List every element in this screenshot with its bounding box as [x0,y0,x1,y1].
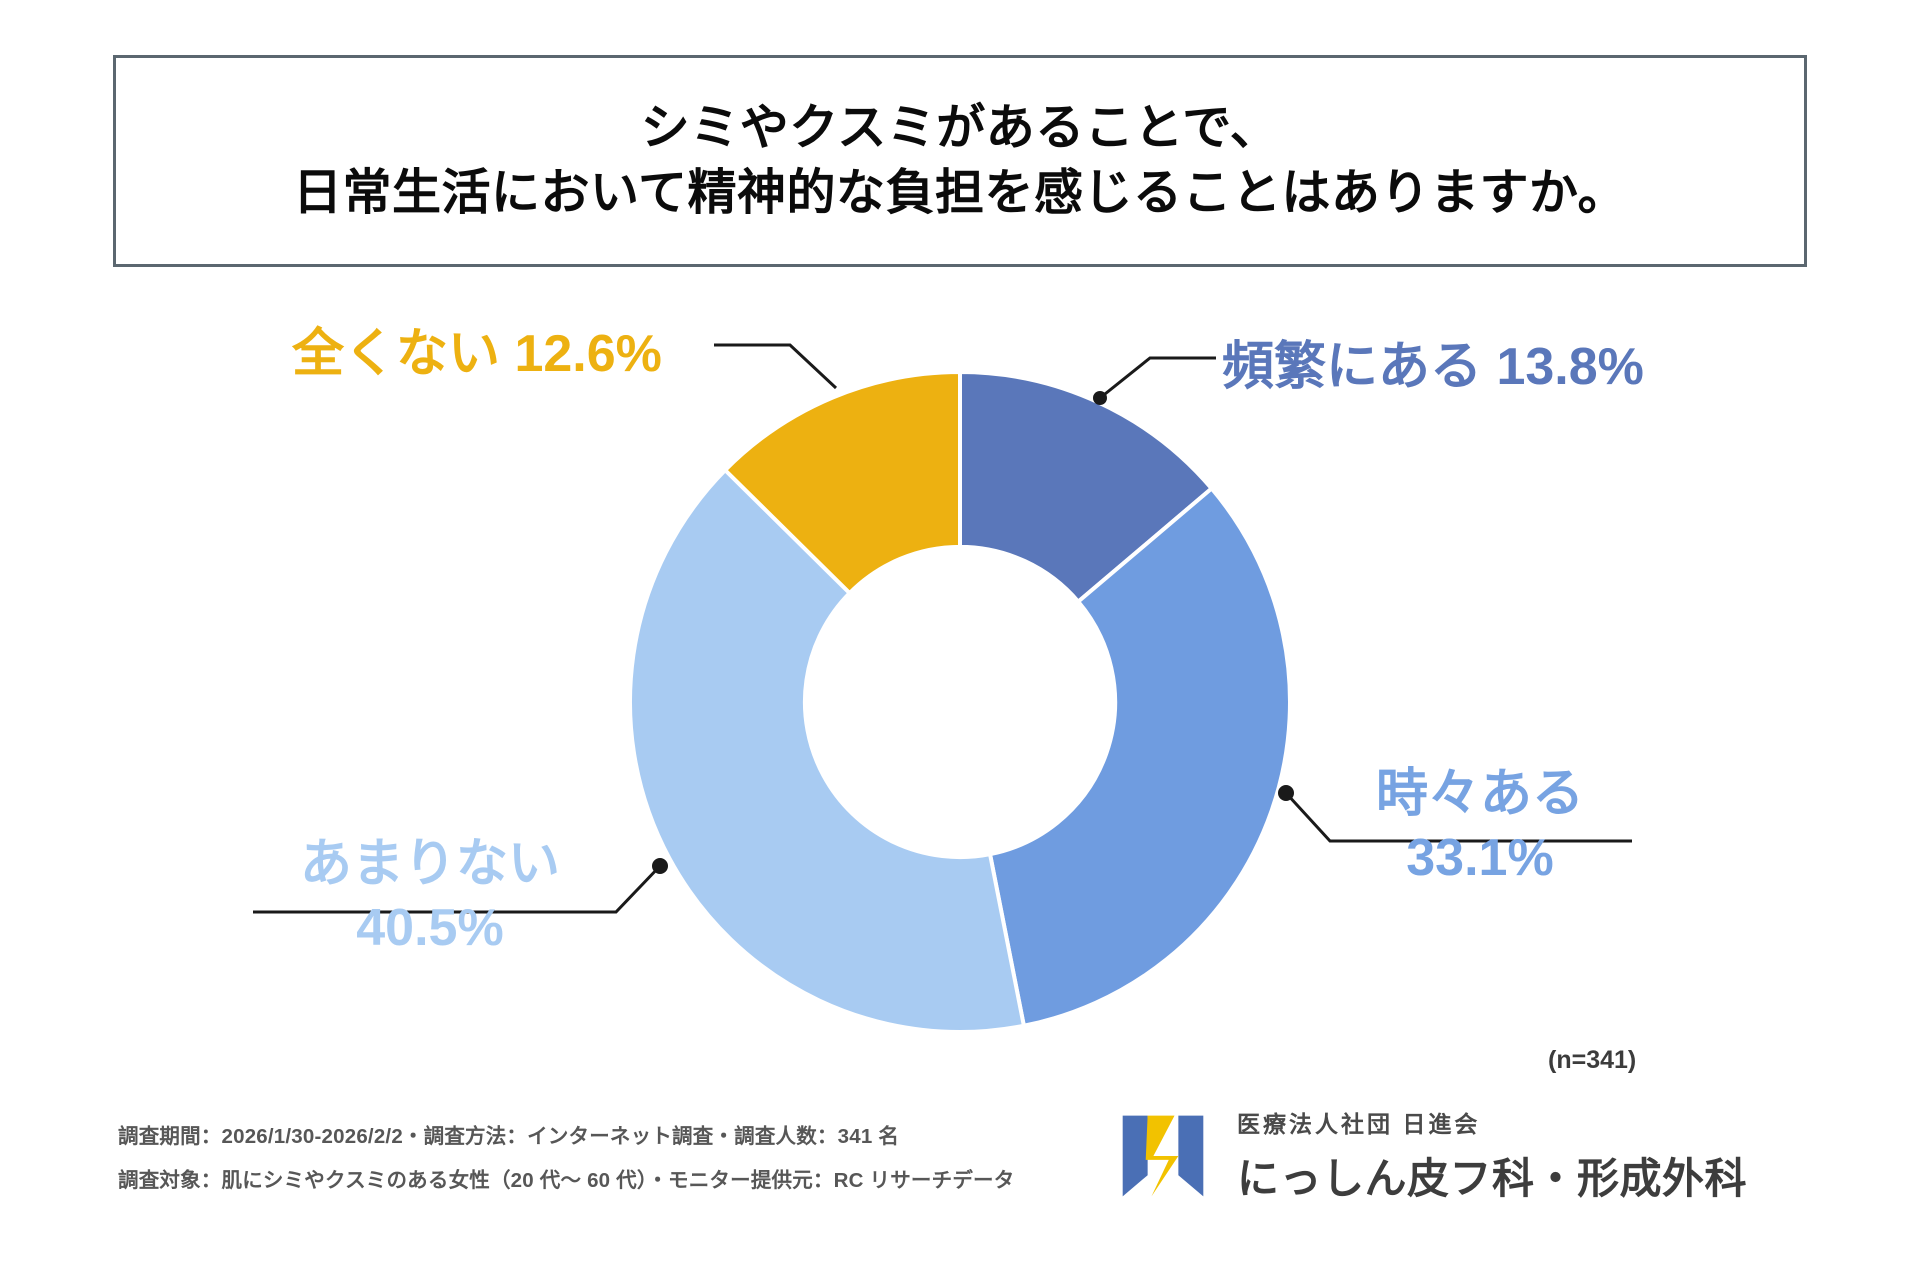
slice-label-sometimes-value: 33.1% [1350,829,1610,887]
slice-label-often-value: 13.8% [1496,338,1643,396]
slice-label-rarely-value: 40.5% [290,899,570,957]
slice-label-none: 全くない 12.6% [292,325,662,383]
title-box: シミやクスミがあることで、 日常生活において精神的な負担を感じることはありますか… [113,55,1807,267]
donut-chart [630,372,1290,1032]
sample-size-note: (n=341) [1548,1046,1636,1075]
logo-text: 医療法人社団 日進会 にっしん皮フ科・形成外科 [1237,1105,1747,1206]
logo-corporation: 医療法人社団 日進会 [1237,1105,1747,1139]
title-line-2: 日常生活において精神的な負担を感じることはありますか。 [293,161,1627,226]
slide-canvas: シミやクスミがあることで、 日常生活において精神的な負担を感じることはありますか… [0,0,1920,1280]
slice-label-sometimes-name: 時々ある [1376,765,1584,823]
slice-label-none-name: 全くない [292,325,500,383]
logo-clinic-name: にっしん皮フ科・形成外科 [1237,1145,1747,1206]
survey-footer-line-2: 調査対象：肌にシミやクスミのある女性（20 代〜 60 代）・モニター提供元：R… [118,1170,1178,1192]
donut-slice-1 [990,488,1290,1025]
survey-footer: 調査期間：2026/1/30-2026/2/2・調査方法：インターネット調査・調… [118,1126,1178,1213]
donut-svg [630,372,1290,1032]
slice-label-none-value: 12.6% [514,325,661,383]
slice-label-often-name: 頻繁にある [1222,338,1482,396]
clinic-logo: 医療法人社団 日進会 にっしん皮フ科・形成外科 [1115,1105,1747,1206]
slice-label-often: 頻繁にある 13.8% [1222,338,1644,396]
nisshin-mark-icon [1115,1108,1211,1204]
title-line-1: シミやクスミがあることで、 [641,96,1280,161]
slice-label-rarely-name: あまりない [300,835,560,893]
survey-footer-line-1: 調査期間：2026/1/30-2026/2/2・調査方法：インターネット調査・調… [118,1126,1178,1148]
slice-label-rarely: あまりない 40.5% [290,835,570,957]
slice-label-sometimes: 時々ある 33.1% [1350,765,1610,887]
